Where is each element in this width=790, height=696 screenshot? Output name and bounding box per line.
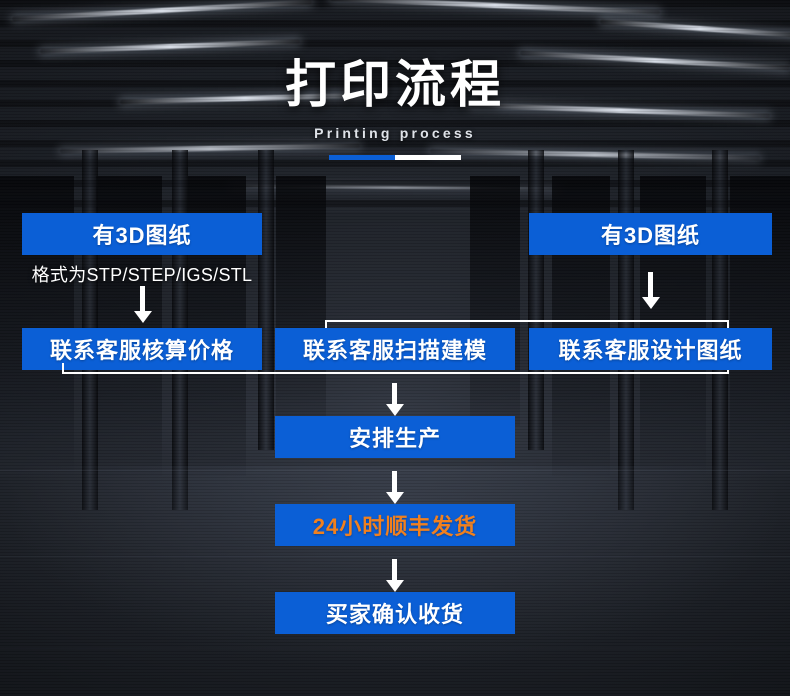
bracket-bottom-horizontal: [62, 372, 729, 374]
arrow-shipping-to-confirm-icon: [392, 559, 397, 581]
flow-caption-file-formats: 格式为STP/STEP/IGS/STL: [22, 261, 262, 287]
structural-column: [528, 150, 544, 450]
divider-segment-blue: [329, 155, 395, 160]
flow-box-arrange-production[interactable]: 安排生产: [275, 416, 515, 458]
arrow-merge-down-icon: [392, 383, 397, 405]
flow-box-has-3d-drawing-left[interactable]: 有3D图纸: [22, 213, 262, 255]
divider-segment-white: [395, 155, 461, 160]
flow-box-contact-service-scan-model[interactable]: 联系客服扫描建模: [275, 328, 515, 370]
page-subtitle: Printing process: [0, 125, 790, 141]
arrow-production-to-shipping-icon: [392, 471, 397, 493]
flow-box-has-3d-drawing-right[interactable]: 有3D图纸: [529, 213, 772, 255]
title-divider: [329, 155, 461, 160]
printing-process-infographic: 打印流程 Printing process 有3D图纸 格式为STP/STEP/…: [0, 0, 790, 696]
page-title: 打印流程: [0, 56, 790, 114]
flow-box-contact-service-quote[interactable]: 联系客服核算价格: [22, 328, 262, 370]
flow-box-contact-service-design-drawing[interactable]: 联系客服设计图纸: [529, 328, 772, 370]
structural-column: [258, 150, 274, 450]
warehouse-bay: [276, 176, 326, 426]
warehouse-bay: [470, 176, 520, 426]
flow-box-24h-sf-express-shipping[interactable]: 24小时顺丰发货: [275, 504, 515, 546]
arrow-left-down-icon: [140, 286, 145, 312]
bracket-top-horizontal: [325, 320, 729, 322]
header: 打印流程 Printing process: [0, 56, 790, 160]
arrow-right-down-icon: [648, 272, 653, 298]
flow-box-buyer-confirm-receipt[interactable]: 买家确认收货: [275, 592, 515, 634]
